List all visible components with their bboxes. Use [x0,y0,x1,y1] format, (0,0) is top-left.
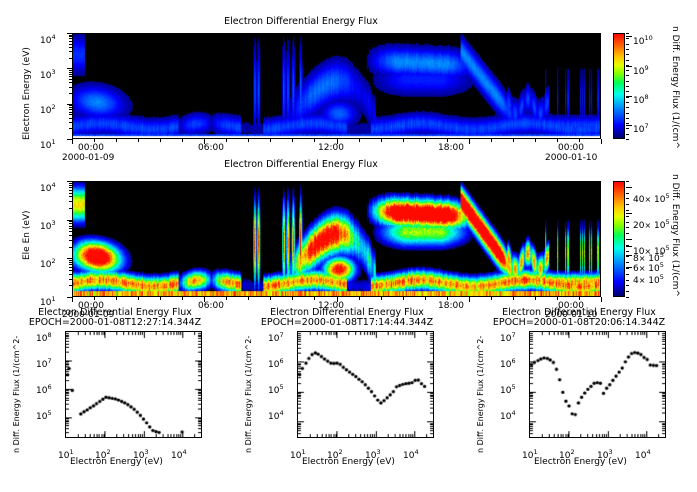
axis-tick-minor [513,139,514,142]
axis-tick-minor [248,139,249,142]
axis-tick [204,139,205,144]
axis-tick-minor [579,297,580,300]
axis-tick-minor [359,139,360,142]
panel-2-ytick-2: 102 [40,252,56,271]
panel-1-xtick-2: 12:00 [318,143,344,153]
panel-1-ytick-3: 101 [40,133,56,152]
colorbar-tick-minor [626,49,629,50]
panel-1-ytick-2: 102 [40,98,56,117]
colorbar-tick-minor [626,227,629,228]
axis-tick-minor [69,264,72,265]
axis-tick-minor [381,139,382,142]
axis-tick-minor [69,105,72,106]
panel-1-cbar-label-wrap: n Diff. Energy Flux (1/(cm^ [680,26,697,36]
axis-tick-minor [69,279,72,280]
axis-tick-minor [535,297,536,300]
axis-tick-minor [160,139,161,142]
figure-root: Electron Differential Energy Flux Electr… [0,0,697,492]
axis-tick-minor [359,297,360,300]
axis-tick-minor [292,139,293,142]
panel-2-ytick-0: 104 [40,176,56,195]
axis-tick-minor [292,297,293,300]
panel-1-cbar-tick-0: 1010 [633,29,653,48]
axis-tick-minor [579,139,580,142]
axis-tick-minor [226,139,227,142]
spectrum-2-ylabel: n Diff. Energy Flux (1/(cm^2- [244,336,253,453]
colorbar-tick-minor [626,102,629,103]
colorbar-tick-minor [626,268,629,269]
panel-2-ytick-1: 103 [40,214,56,233]
axis-tick-minor [226,297,227,300]
colorbar-tick-minor [626,280,629,281]
axis-tick [337,139,338,144]
axis-tick-minor [160,297,161,300]
colorbar-tick-minor [626,38,629,39]
axis-tick-minor [69,51,72,52]
axis-tick [67,181,72,182]
spectrum-panel-2: Electron Differential Energy Flux EPOCH=… [232,305,464,492]
colorbar-tick-minor [626,256,629,257]
spectrum-2-xtick-3: 104 [403,443,419,462]
axis-tick-minor [182,297,183,300]
colorbar-tick-minor [626,181,629,182]
axis-tick-minor [314,297,315,300]
panel-2-ylabel: Ele En (eV) [22,210,32,260]
panel-1-cbar-tick-3: 107 [633,117,649,136]
panel-1-cbar-tick-2: 108 [633,88,649,107]
spectrum-2-ytick-1: 106 [268,352,284,371]
colorbar-tick-minor [626,118,629,119]
panel-2-cbar-tick-5: 4× 105 [633,268,664,287]
colorbar-tick-minor [626,128,629,129]
colorbar-tick-minor [626,285,629,286]
axis-tick-minor [69,267,72,268]
axis-tick-minor [94,297,95,300]
spectrum-2-ytick-2: 105 [268,378,284,397]
panel-1-cbar-label: n Diff. Energy Flux (1/(cm^ [670,26,680,149]
axis-tick-minor [69,193,72,194]
panel-1-colorbar [613,33,625,139]
axis-tick-minor [69,79,72,80]
spectrum-2-plot-area [297,331,434,438]
axis-tick-minor [116,139,117,142]
axis-tick-minor [69,208,72,209]
spectrum-1-ytick-0: 108 [36,326,52,345]
panel-1-xtick-0: 00:00 [78,143,104,153]
axis-tick-minor [69,74,72,75]
axis-tick-minor [69,44,72,45]
spectrum-1-xlabel: Electron Energy (eV) [70,457,163,467]
panel-2-plot-area [72,181,601,297]
axis-tick-minor [314,139,315,142]
axis-tick-minor [270,139,271,142]
panel-1-xtick-1: 06:00 [198,143,224,153]
axis-tick-minor [69,36,72,37]
axis-tick-minor [69,122,72,123]
axis-tick-minor [69,228,72,229]
colorbar-tick-minor [626,251,629,252]
axis-tick-minor [69,185,72,186]
panel-1-cbar-tick-1: 109 [633,59,649,78]
panel-1-xtick-4: 00:00 [558,143,584,153]
colorbar-tick-minor [626,222,629,223]
spectrum-1-ytick-2: 106 [36,378,52,397]
axis-tick-minor [69,72,72,73]
axis-tick-minor [447,139,448,142]
spectrum-1-plot-area [65,331,202,438]
axis-tick-minor [381,297,382,300]
axis-tick-minor [69,47,72,48]
axis-tick-minor [425,139,426,142]
axis-tick [67,68,72,69]
spectrum-1-ytick-3: 105 [36,404,52,423]
axis-tick-minor [69,107,72,108]
panel-1-ytick-1: 103 [40,63,56,82]
colorbar-tick [626,213,632,214]
colorbar-tick-minor [626,210,629,211]
colorbar-tick-minor [626,291,629,292]
axis-tick-minor [69,118,72,119]
panel-2-cbar-tick-1: 20× 105 [633,213,670,232]
colorbar-tick-minor [626,216,629,217]
spectrum-1-xtick-3: 104 [171,443,187,462]
axis-tick-minor [69,109,72,110]
colorbar-tick [626,246,632,247]
panel-2-cbar-label: n Diff. Energy Flux (1/(cm^ [670,174,680,297]
axis-tick-minor [447,297,448,300]
axis-tick-minor [535,139,536,142]
axis-tick-minor [491,139,492,142]
axis-tick [469,297,470,302]
axis-tick [72,139,73,144]
axis-tick-minor [94,139,95,142]
spectrum-3-xtick-3: 104 [635,443,651,462]
panel-1-plot-area [72,33,601,139]
axis-tick-minor [69,274,72,275]
spectrum-3-plot-area [529,331,666,438]
axis-tick-minor [491,297,492,300]
spectrum-panel-1: Electron Differential Energy Flux EPOCH=… [0,305,232,492]
colorbar-tick-minor [626,70,629,71]
axis-tick-minor [403,139,404,142]
axis-tick-minor [69,76,72,77]
axis-tick-minor [69,183,72,184]
axis-tick-minor [69,58,72,59]
colorbar-tick-minor [626,134,629,135]
axis-tick-minor [69,128,72,129]
colorbar-tick [626,36,632,37]
spectrum-3-ytick-1: 106 [500,352,516,371]
axis-tick-minor [69,70,72,71]
colorbar-tick-minor [626,187,629,188]
colorbar-tick-minor [626,204,629,205]
colorbar-tick-minor [626,81,629,82]
axis-tick-minor [69,285,72,286]
spectrum-2-xlabel: Electron Energy (eV) [302,457,395,467]
colorbar-tick-minor [626,193,629,194]
axis-tick-minor [116,297,117,300]
axis-tick-minor [69,93,72,94]
spectrum-3-ylabel: n Diff. Energy Flux (1/(cm^2- [476,336,485,453]
colorbar-tick-minor [626,274,629,275]
colorbar-tick-minor [626,233,629,234]
panel-1-ylabel: Electron Energy (eV) [22,47,32,140]
axis-tick-minor [425,297,426,300]
colorbar-tick-minor [626,198,629,199]
axis-tick [337,297,338,302]
panel-2-colorbar [613,181,625,297]
axis-tick-minor [69,221,72,222]
axis-tick [601,139,602,144]
axis-tick-minor [69,82,72,83]
axis-tick-minor [513,297,514,300]
axis-tick-minor [69,231,72,232]
colorbar-tick-minor [626,91,629,92]
axis-tick-minor [403,297,404,300]
axis-tick-minor [270,297,271,300]
colorbar-tick-minor [626,44,629,45]
colorbar-tick-minor [626,75,629,76]
axis-tick-minor [69,190,72,191]
colorbar-tick-minor [626,60,629,61]
colorbar-tick-minor [626,86,629,87]
spectrum-3-ytick-3: 104 [500,404,516,423]
axis-tick-minor [69,262,72,263]
axis-tick [67,258,72,259]
axis-tick-minor [248,297,249,300]
axis-tick [72,297,73,302]
panel-1-title: Electron Differential Energy Flux [196,16,406,27]
axis-tick-minor [69,201,72,202]
axis-tick-minor [69,223,72,224]
spectrum-2-ytick-0: 107 [268,326,284,345]
axis-tick-minor [69,226,72,227]
colorbar-tick-minor [626,33,629,34]
spectrum-panel-3: Electron Differential Energy Flux EPOCH=… [464,305,697,492]
spectrum-2-ytick-3: 104 [268,404,284,423]
axis-tick-minor [69,35,72,36]
panel-2-title: Electron Differential Energy Flux [196,159,406,170]
axis-tick-minor [69,260,72,261]
axis-tick-minor [138,139,139,142]
panel-1-spectrogram: Electron Differential Energy Flux Electr… [0,0,697,170]
axis-tick [601,297,602,302]
panel-2-cbar-tick-0: 40× 105 [633,187,670,206]
colorbar-tick-minor [626,262,629,263]
axis-tick-minor [69,247,72,248]
colorbar-tick-minor [626,297,629,298]
colorbar-tick-minor [626,245,629,246]
axis-tick-minor [69,38,72,39]
axis-tick-minor [69,235,72,236]
axis-tick-minor [69,196,72,197]
axis-tick-minor [69,187,72,188]
axis-tick [204,297,205,302]
axis-tick-minor [69,240,72,241]
colorbar-tick-minor [626,123,629,124]
colorbar-tick-minor [626,65,629,66]
spectrum-1-ylabel: n Diff. Energy Flux (1/(cm^2- [12,336,21,453]
axis-tick [469,139,470,144]
spectrum-3-ytick-0: 107 [500,326,516,345]
colorbar-tick-minor [626,54,629,55]
spectrum-1-ytick-1: 107 [36,352,52,371]
colorbar-tick-minor [626,107,629,108]
axis-tick-minor [69,41,72,42]
colorbar-tick-minor [626,113,629,114]
axis-tick-minor [557,139,558,142]
axis-tick-minor [69,112,72,113]
axis-tick-minor [69,87,72,88]
axis-tick [67,33,72,34]
colorbar-tick [626,125,632,126]
panel-2-spectrogram: Electron Differential Energy Flux Ele En… [0,160,697,310]
panel-2-cbar-label-wrap: n Diff. Energy Flux (1/(cm^ [680,174,697,184]
colorbar-tick-minor [626,139,629,140]
axis-tick-minor [182,139,183,142]
panel-1-ytick-0: 104 [40,28,56,47]
panel-1-xtick-3: 18:00 [438,143,464,153]
axis-tick-minor [69,270,72,271]
colorbar-tick-minor [626,239,629,240]
axis-tick-minor [69,114,72,115]
colorbar-tick [626,66,632,67]
axis-tick-minor [138,297,139,300]
spectrum-3-xlabel: Electron Energy (eV) [534,457,627,467]
spectrum-3-ytick-2: 105 [500,378,516,397]
axis-tick-minor [557,297,558,300]
colorbar-tick-minor [626,97,629,98]
